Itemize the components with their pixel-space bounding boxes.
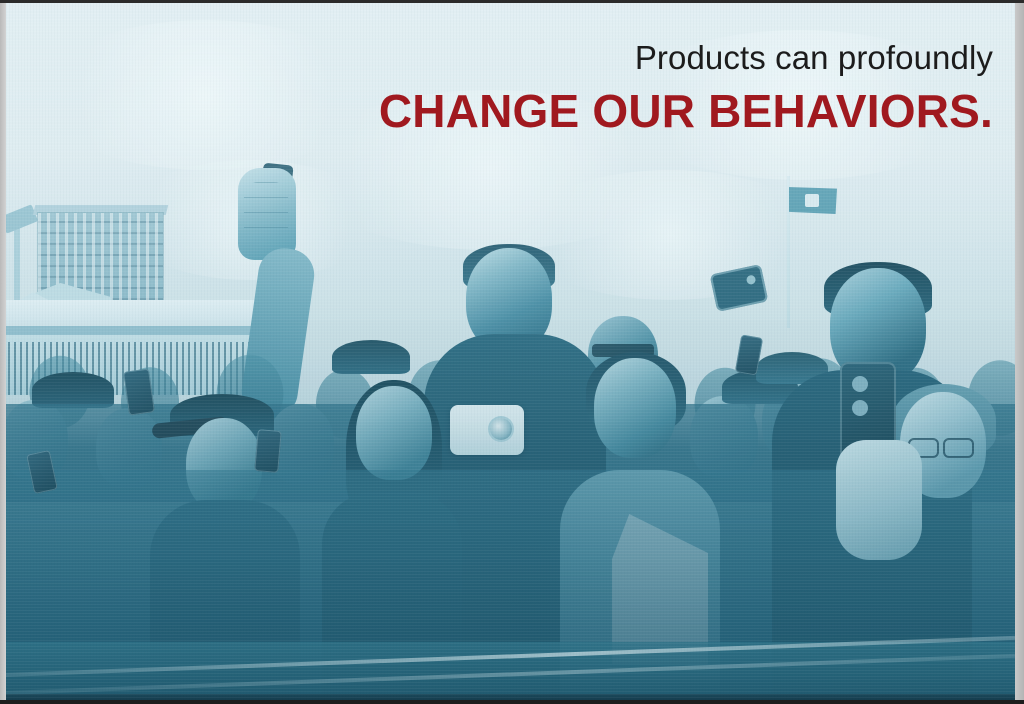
cloud-shape [520,170,820,300]
slide-edge-top [0,0,1024,3]
raised-fist [238,168,296,260]
slide-edge-bottom [0,700,1024,704]
grandstand-rail [0,326,280,335]
crowd-cap [32,372,114,408]
crowd-cap [332,340,410,374]
headline-block: Products can profoundly CHANGE OUR BEHAV… [233,38,993,140]
headline-line-1: Products can profoundly [233,38,993,78]
crowd-phone-icon [254,429,282,473]
camera-lens-icon [490,418,512,440]
grandstand-roof [0,300,280,326]
woman-center-head [594,358,676,458]
slide-edge-right [1015,0,1024,704]
slide-edge-left [0,0,6,704]
white-compact-camera-icon [450,405,524,455]
headline-line-2: CHANGE OUR BEHAVIORS. [233,82,993,140]
woman-midleft-head [356,386,432,480]
hand-holding-phone-right [836,440,922,560]
slide-canvas: Products can profoundly CHANGE OUR BEHAV… [0,0,1024,704]
flag-icon [789,187,837,214]
